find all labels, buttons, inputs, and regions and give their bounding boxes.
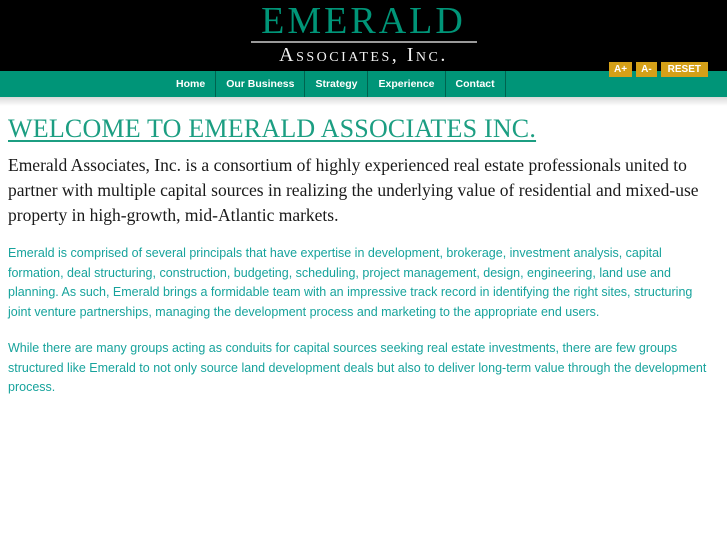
site-header: EMERALD Associates, Inc. A+ A- RESET	[0, 0, 727, 71]
font-size-reset-button[interactable]: RESET	[661, 62, 708, 77]
nav-left-spacer	[0, 71, 166, 97]
nav-item-experience[interactable]: Experience	[368, 71, 445, 97]
logo-wordmark-primary: EMERALD	[0, 2, 727, 40]
page-title: WELCOME TO EMERALD ASSOCIATES INC.	[8, 114, 719, 144]
font-size-decrease-button[interactable]: A-	[636, 62, 657, 77]
nav-shadow-strip	[0, 97, 727, 106]
font-size-controls: A+ A- RESET	[609, 62, 708, 77]
intro-paragraph: Emerald Associates, Inc. is a consortium…	[8, 153, 719, 228]
nav-item-our-business[interactable]: Our Business	[216, 71, 305, 97]
main-content: WELCOME TO EMERALD ASSOCIATES INC. Emera…	[0, 106, 727, 398]
body-paragraph-2: While there are many groups acting as co…	[8, 339, 719, 398]
nav-item-contact[interactable]: Contact	[446, 71, 506, 97]
nav-item-strategy[interactable]: Strategy	[305, 71, 368, 97]
body-paragraph-1: Emerald is comprised of several principa…	[8, 244, 719, 322]
site-logo[interactable]: EMERALD Associates, Inc.	[0, 2, 727, 66]
nav-item-home[interactable]: Home	[166, 71, 216, 97]
font-size-increase-button[interactable]: A+	[609, 62, 632, 77]
